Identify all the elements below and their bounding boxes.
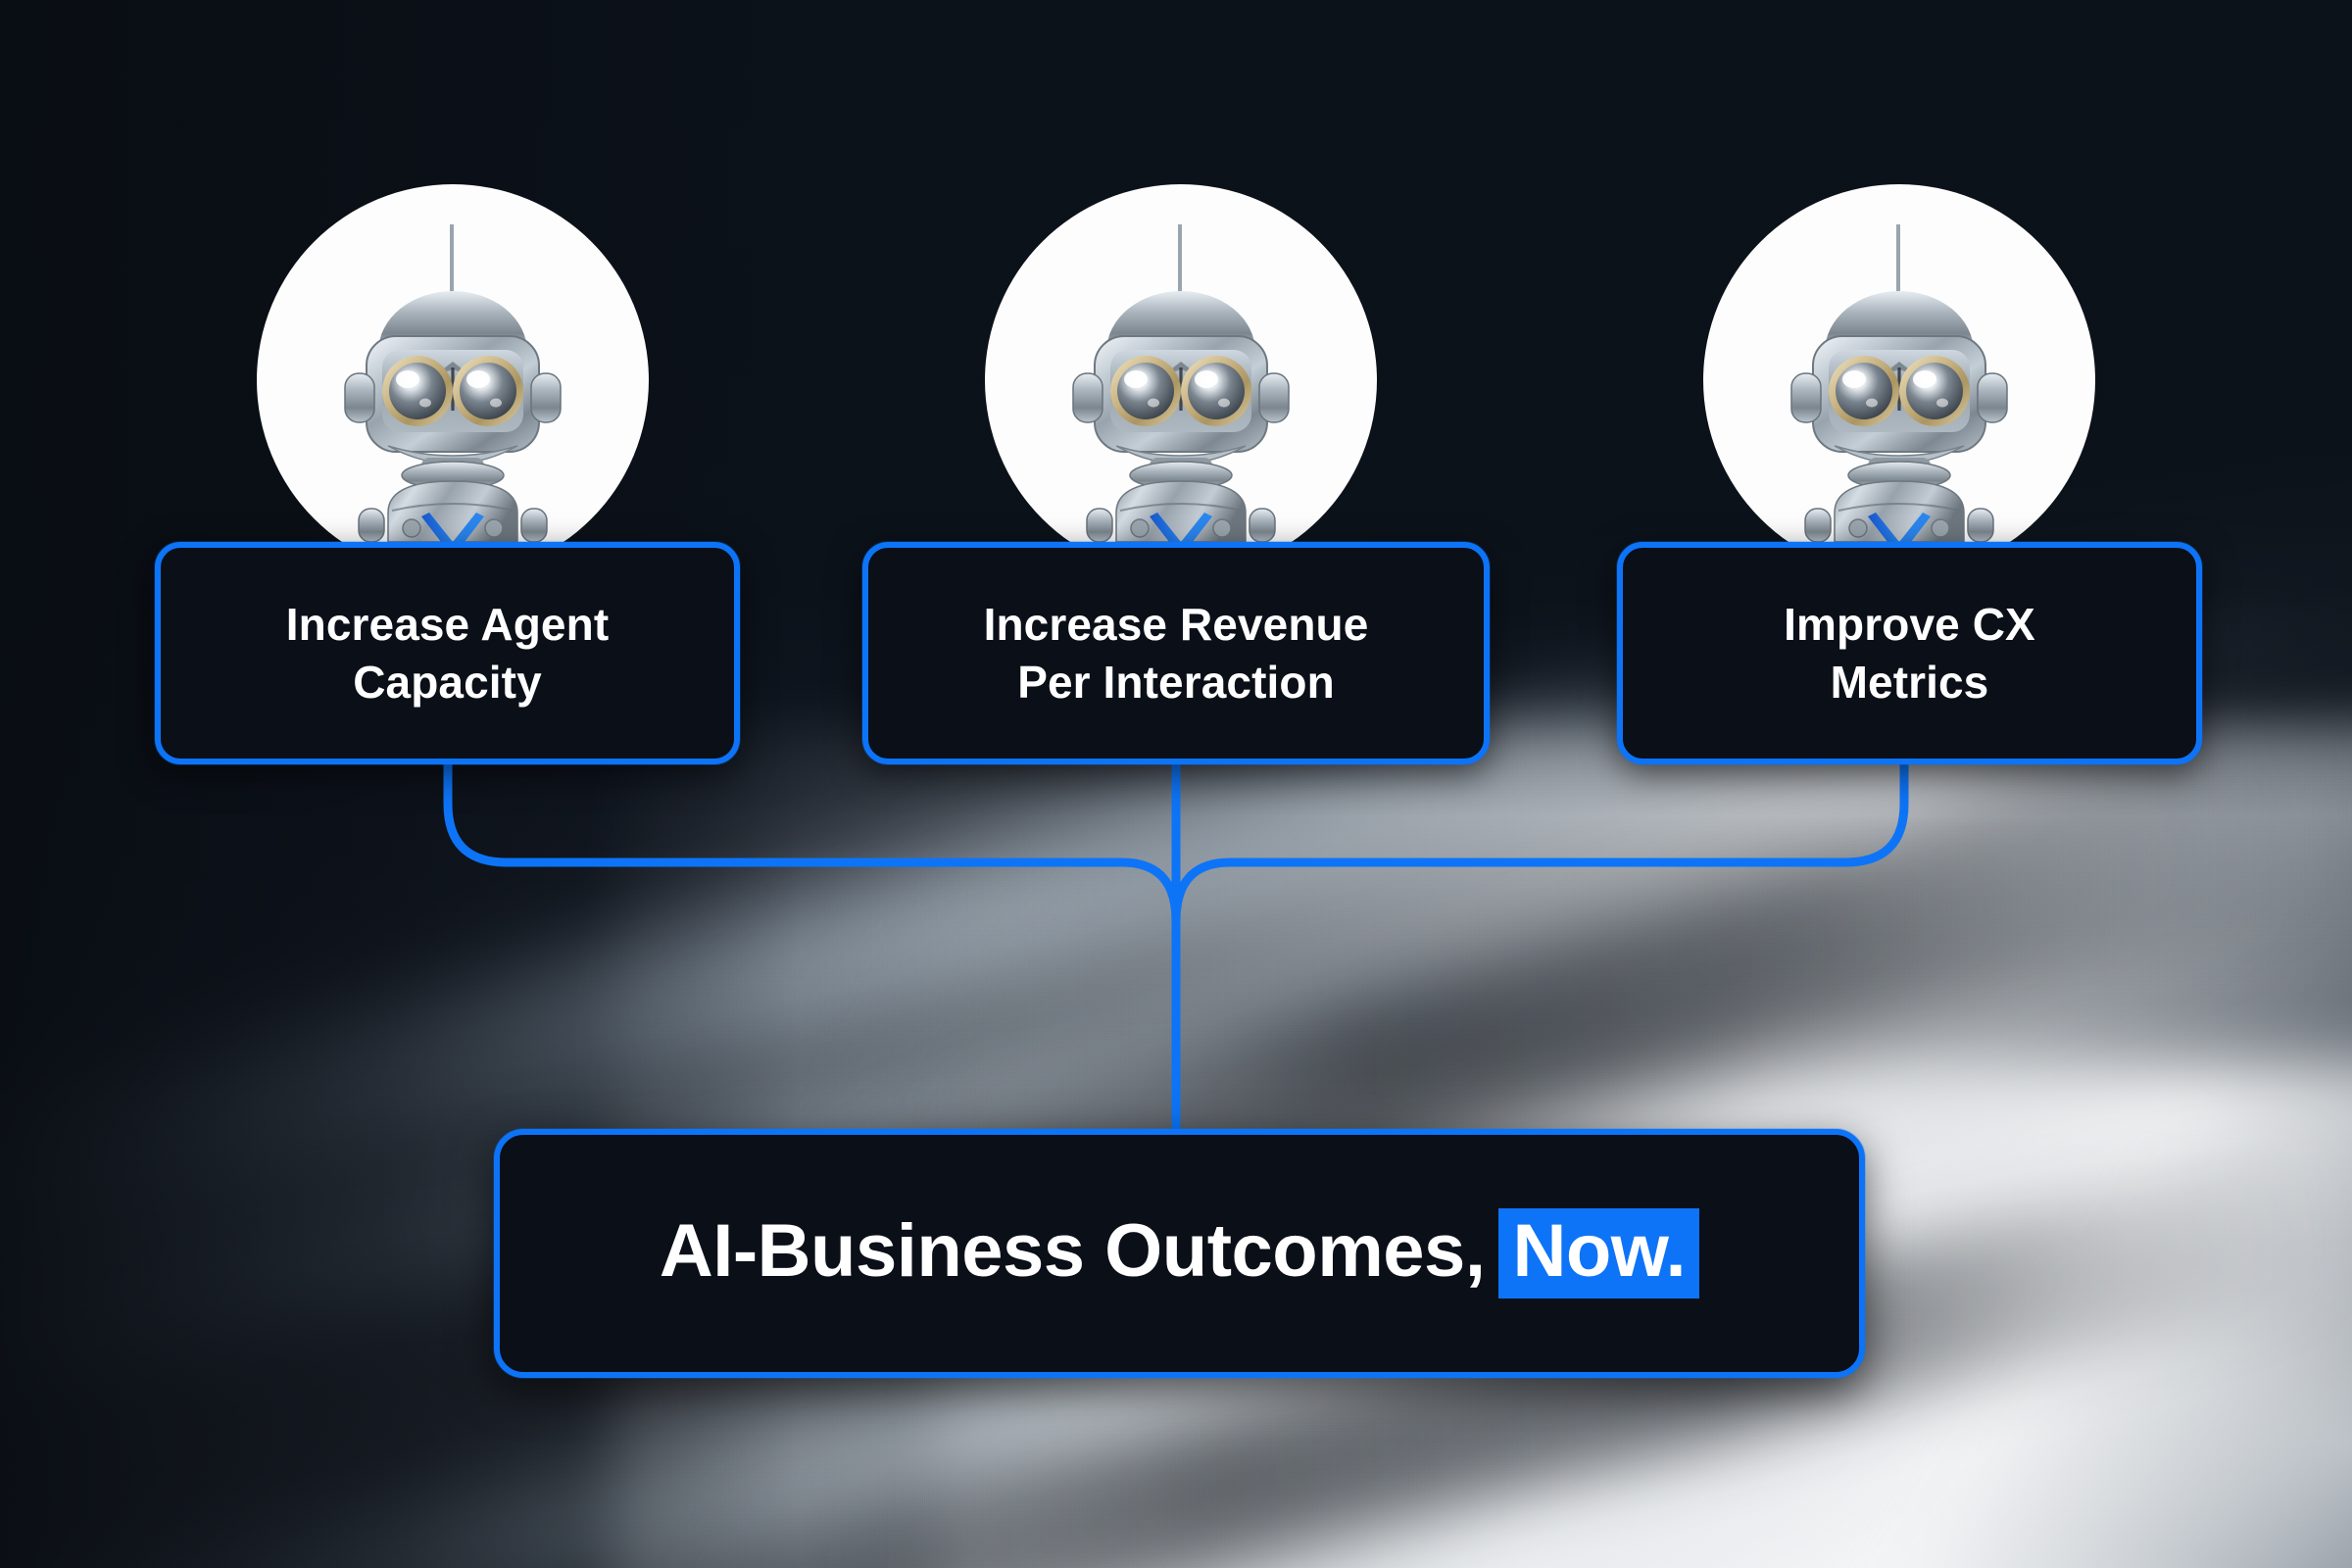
node-card-improve-cx-metrics[interactable]: Improve CX Metrics: [1617, 542, 2202, 764]
node-card-label: Increase Agent Capacity: [286, 596, 610, 711]
slide-canvas: Increase Agent Capacity Increase Revenue…: [0, 0, 2352, 1568]
result-card-text: AI-Business Outcomes, Now.: [660, 1208, 1699, 1298]
node-card-label: Increase Revenue Per Interaction: [984, 596, 1369, 711]
wire-left: [448, 764, 1176, 1129]
wire-right: [1176, 764, 1904, 1129]
node-card-increase-revenue-per-interaction[interactable]: Increase Revenue Per Interaction: [862, 542, 1490, 764]
result-text-highlight: Now.: [1498, 1208, 1699, 1298]
node-card-increase-agent-capacity[interactable]: Increase Agent Capacity: [155, 542, 740, 764]
result-text-normal: AI-Business Outcomes,: [660, 1208, 1486, 1294]
node-card-label: Improve CX Metrics: [1784, 596, 2035, 711]
result-card-ai-business-outcomes[interactable]: AI-Business Outcomes, Now.: [494, 1129, 1865, 1378]
